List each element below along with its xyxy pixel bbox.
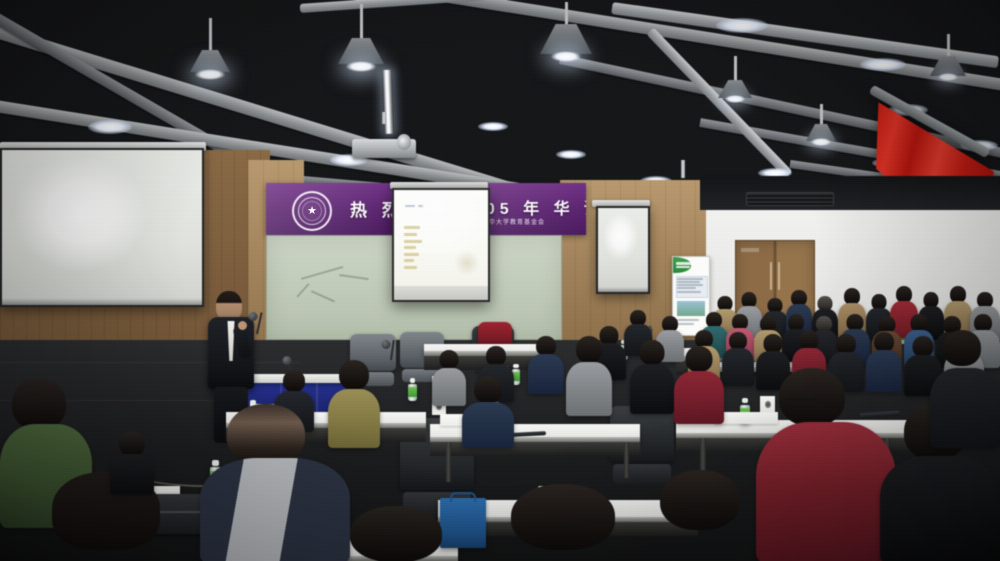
pendant-lamp — [718, 56, 752, 104]
audience-member-foreground — [756, 368, 896, 561]
banner-subline: 清华大学教育基金会 — [482, 217, 545, 226]
projected-presentation-slide — [392, 188, 490, 302]
water-bottle — [408, 378, 417, 401]
audience-member — [722, 332, 754, 386]
ceiling-air-vent — [746, 192, 834, 206]
door-handle[interactable] — [778, 262, 780, 290]
audience-member — [528, 336, 564, 394]
audience-member-foreground — [200, 404, 350, 561]
desk-microphone — [386, 340, 395, 360]
audience-member-foreground — [640, 470, 760, 561]
pendant-lamp — [540, 2, 592, 64]
door-plate — [741, 248, 760, 252]
audience-member — [566, 336, 612, 416]
audience-member — [930, 330, 1000, 448]
recessed-ceiling-light — [860, 58, 906, 71]
speaker-hand — [238, 321, 247, 330]
left-projection-screen — [0, 148, 204, 307]
emblem-star: ★ — [307, 206, 317, 217]
pendant-lamp — [806, 104, 836, 148]
pendant-lamp — [190, 18, 230, 76]
recessed-ceiling-light — [556, 150, 586, 159]
university-seal-emblem: ★ — [292, 191, 332, 231]
conference-hall-photo: ★ 热 烈 105 年 华 诞 清华大学教育基金会 — [0, 0, 1000, 561]
pendant-lamp — [338, 4, 384, 70]
handheld-microphone — [252, 312, 262, 334]
table-leg — [446, 442, 451, 482]
ceiling-projector — [352, 124, 416, 158]
ceiling-band — [700, 176, 1000, 210]
door-handle[interactable] — [770, 262, 772, 290]
audience-member — [432, 350, 466, 406]
pendant-lamp — [930, 34, 966, 84]
audience-member-foreground — [488, 484, 638, 561]
audience-member — [462, 376, 514, 448]
audience-member — [630, 340, 674, 414]
eyeglasses — [786, 398, 820, 401]
recessed-ceiling-light — [716, 18, 768, 33]
right-projection-screen — [596, 206, 650, 294]
audience-member-foreground — [336, 506, 456, 561]
recessed-ceiling-light — [478, 122, 508, 131]
table-leg — [624, 442, 629, 478]
audience-member — [674, 346, 724, 424]
audience-member — [110, 432, 154, 494]
recessed-ceiling-light — [88, 120, 132, 134]
